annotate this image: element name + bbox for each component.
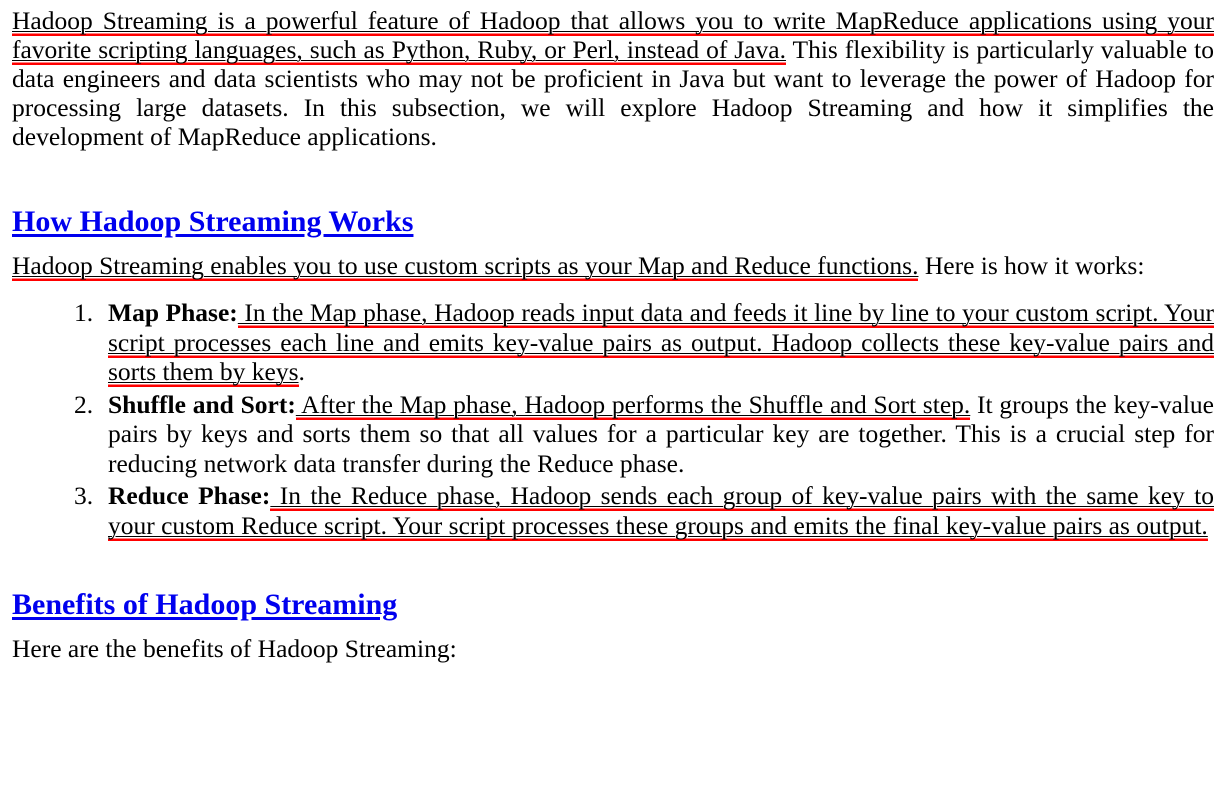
step-lead-label: Reduce Phase: bbox=[108, 481, 270, 510]
annotated-text-step-3: In the Reduce phase, Hadoop sends each g… bbox=[108, 481, 1214, 541]
annotated-text-step-2: After the Map phase, Hadoop performs the… bbox=[296, 390, 970, 420]
section-1-paragraph: Hadoop Streaming enables you to use cust… bbox=[12, 251, 1214, 280]
list-item: Map Phase: In the Map phase, Hadoop read… bbox=[12, 298, 1214, 387]
step-1-rest: . bbox=[299, 357, 305, 386]
section-heading-benefits-of-hadoop-streaming[interactable]: Benefits of Hadoop Streaming bbox=[12, 588, 397, 622]
steps-list: Map Phase: In the Map phase, Hadoop read… bbox=[12, 298, 1214, 540]
step-lead-label: Shuffle and Sort: bbox=[108, 390, 296, 419]
intro-paragraph: Hadoop Streaming is a powerful feature o… bbox=[12, 0, 1214, 151]
section-heading-how-hadoop-streaming-works[interactable]: How Hadoop Streaming Works bbox=[12, 205, 413, 239]
list-item: Shuffle and Sort: After the Map phase, H… bbox=[12, 390, 1214, 479]
step-lead-label: Map Phase: bbox=[108, 298, 238, 327]
annotated-text-step-1: In the Map phase, Hadoop reads input dat… bbox=[108, 298, 1214, 387]
list-item: Reduce Phase: In the Reduce phase, Hadoo… bbox=[12, 481, 1214, 540]
section-2-paragraph: Here are the benefits of Hadoop Streamin… bbox=[12, 634, 1214, 663]
section-1-paragraph-rest: Here is how it works: bbox=[918, 251, 1144, 280]
document-page: Hadoop Streaming is a powerful feature o… bbox=[0, 0, 1230, 807]
annotated-text-section-1: Hadoop Streaming enables you to use cust… bbox=[12, 251, 918, 281]
